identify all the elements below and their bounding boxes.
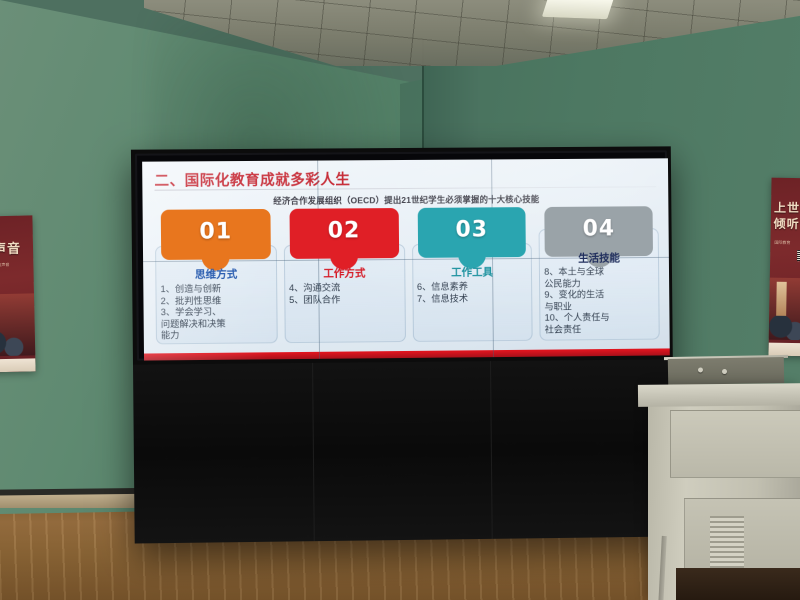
list-item: 9、变化的生活 xyxy=(544,289,655,302)
ceiling-light-icon xyxy=(542,0,614,19)
poster-left-title: 的声音 xyxy=(0,242,21,257)
skill-card-04[interactable]: 04 生活技能 8、本土与全球 公民能力 9、变化的生活 与职业 10、个人责任… xyxy=(539,206,660,345)
list-item: 4、沟通交流 xyxy=(289,282,401,295)
card-badge-01: 01 xyxy=(161,209,271,260)
screen-bezel: 二、国际化教育成就多彩人生 经济合作发展组织（OECD）提出21世纪学生必须掌握… xyxy=(135,150,669,360)
list-item: 7、信息技术 xyxy=(417,293,529,306)
slide-footer-bar xyxy=(144,348,670,360)
poster-right-title-line2: 倾听 xyxy=(774,218,800,231)
slide-subtitle: 经济合作发展组织（OECD）提出21世纪学生必须掌握的十大核心技能 xyxy=(155,192,657,208)
poster-right: 上世界 倾听 国际教育 xyxy=(768,178,800,357)
card-number: 04 xyxy=(545,216,653,242)
classroom-scene: 的声音 倾听世界的声音 上世界 倾听 国际教育 二、国际化教育成就多彩人生 经济… xyxy=(0,0,800,600)
list-item: 6、信息素养 xyxy=(417,281,529,294)
card-item-list: 8、本土与全球 公民能力 9、变化的生活 与职业 10、个人责任与 社会责任 xyxy=(544,266,656,336)
poster-left-subtitle: 倾听世界的声音 xyxy=(0,262,9,269)
card-item-list: 1、创造与创新 2、批判性思维 3、学会学习、 问题解决和决策 能力 xyxy=(160,283,273,342)
list-item: 公民能力 xyxy=(544,277,655,290)
lectern-top-surface xyxy=(638,383,800,407)
gooseneck-microphone-icon[interactable] xyxy=(668,357,784,385)
mic-knob[interactable] xyxy=(698,367,703,372)
card-item-list: 4、沟通交流 5、团队合作 xyxy=(289,282,401,306)
card-heading: 思维方式 xyxy=(155,266,277,282)
card-number: 02 xyxy=(289,218,398,244)
video-wall-screen[interactable]: 二、国际化教育成就多彩人生 经济合作发展组织（OECD）提出21世纪学生必须掌握… xyxy=(142,158,670,360)
card-number: 01 xyxy=(161,219,271,245)
poster-left-footer xyxy=(0,358,36,372)
card-heading: 工作工具 xyxy=(412,264,533,280)
skill-card-01[interactable]: 01 思维方式 1、创造与创新 2、批判性思维 3、学会学习、 问题解决和决策 … xyxy=(155,209,278,348)
card-heading: 生活技能 xyxy=(539,250,659,266)
podium-foot-shadow xyxy=(676,568,800,600)
list-item: 10、个人责任与 xyxy=(545,312,656,325)
card-badge-03: 03 xyxy=(417,207,526,258)
list-item: 3、学会学习、 xyxy=(161,306,274,319)
poster-right-subtitle: 国际教育 xyxy=(774,240,790,246)
list-item: 与职业 xyxy=(544,301,655,314)
skill-card-02[interactable]: 02 工作方式 4、沟通交流 5、团队合作 xyxy=(283,208,405,347)
card-item-list: 6、信息素养 7、信息技术 xyxy=(417,281,529,305)
poster-right-artwork xyxy=(769,278,800,341)
list-item: 2、批判性思维 xyxy=(161,295,274,308)
lectern-leg xyxy=(658,536,667,600)
card-heading: 工作方式 xyxy=(284,265,405,281)
list-item: 8、本土与全球 xyxy=(544,266,655,278)
list-item: 社会责任 xyxy=(545,324,656,337)
poster-left-artwork xyxy=(0,293,35,356)
card-number: 03 xyxy=(417,217,526,243)
mic-knob[interactable] xyxy=(722,369,727,374)
list-item: 问题解决和决策 xyxy=(161,318,274,331)
list-item: 5、团队合作 xyxy=(289,294,401,307)
cabinet-base xyxy=(133,359,675,543)
list-item: 能力 xyxy=(161,330,274,343)
video-wall-unit: 二、国际化教育成就多彩人生 经济合作发展组织（OECD）提出21世纪学生必须掌握… xyxy=(131,146,675,543)
skill-card-row: 01 思维方式 1、创造与创新 2、批判性思维 3、学会学习、 问题解决和决策 … xyxy=(155,206,660,348)
lectern-front-panel xyxy=(670,410,800,478)
card-badge-02: 02 xyxy=(289,208,398,259)
poster-left: 的声音 倾听世界的声音 xyxy=(0,215,36,372)
poster-right-title-line1: 上世界 xyxy=(774,202,800,215)
skill-card-03[interactable]: 03 工作工具 6、信息素养 7、信息技术 xyxy=(411,207,533,346)
list-item: 1、创造与创新 xyxy=(160,283,273,296)
presentation-slide: 二、国际化教育成就多彩人生 经济合作发展组织（OECD）提出21世纪学生必须掌握… xyxy=(142,158,670,360)
